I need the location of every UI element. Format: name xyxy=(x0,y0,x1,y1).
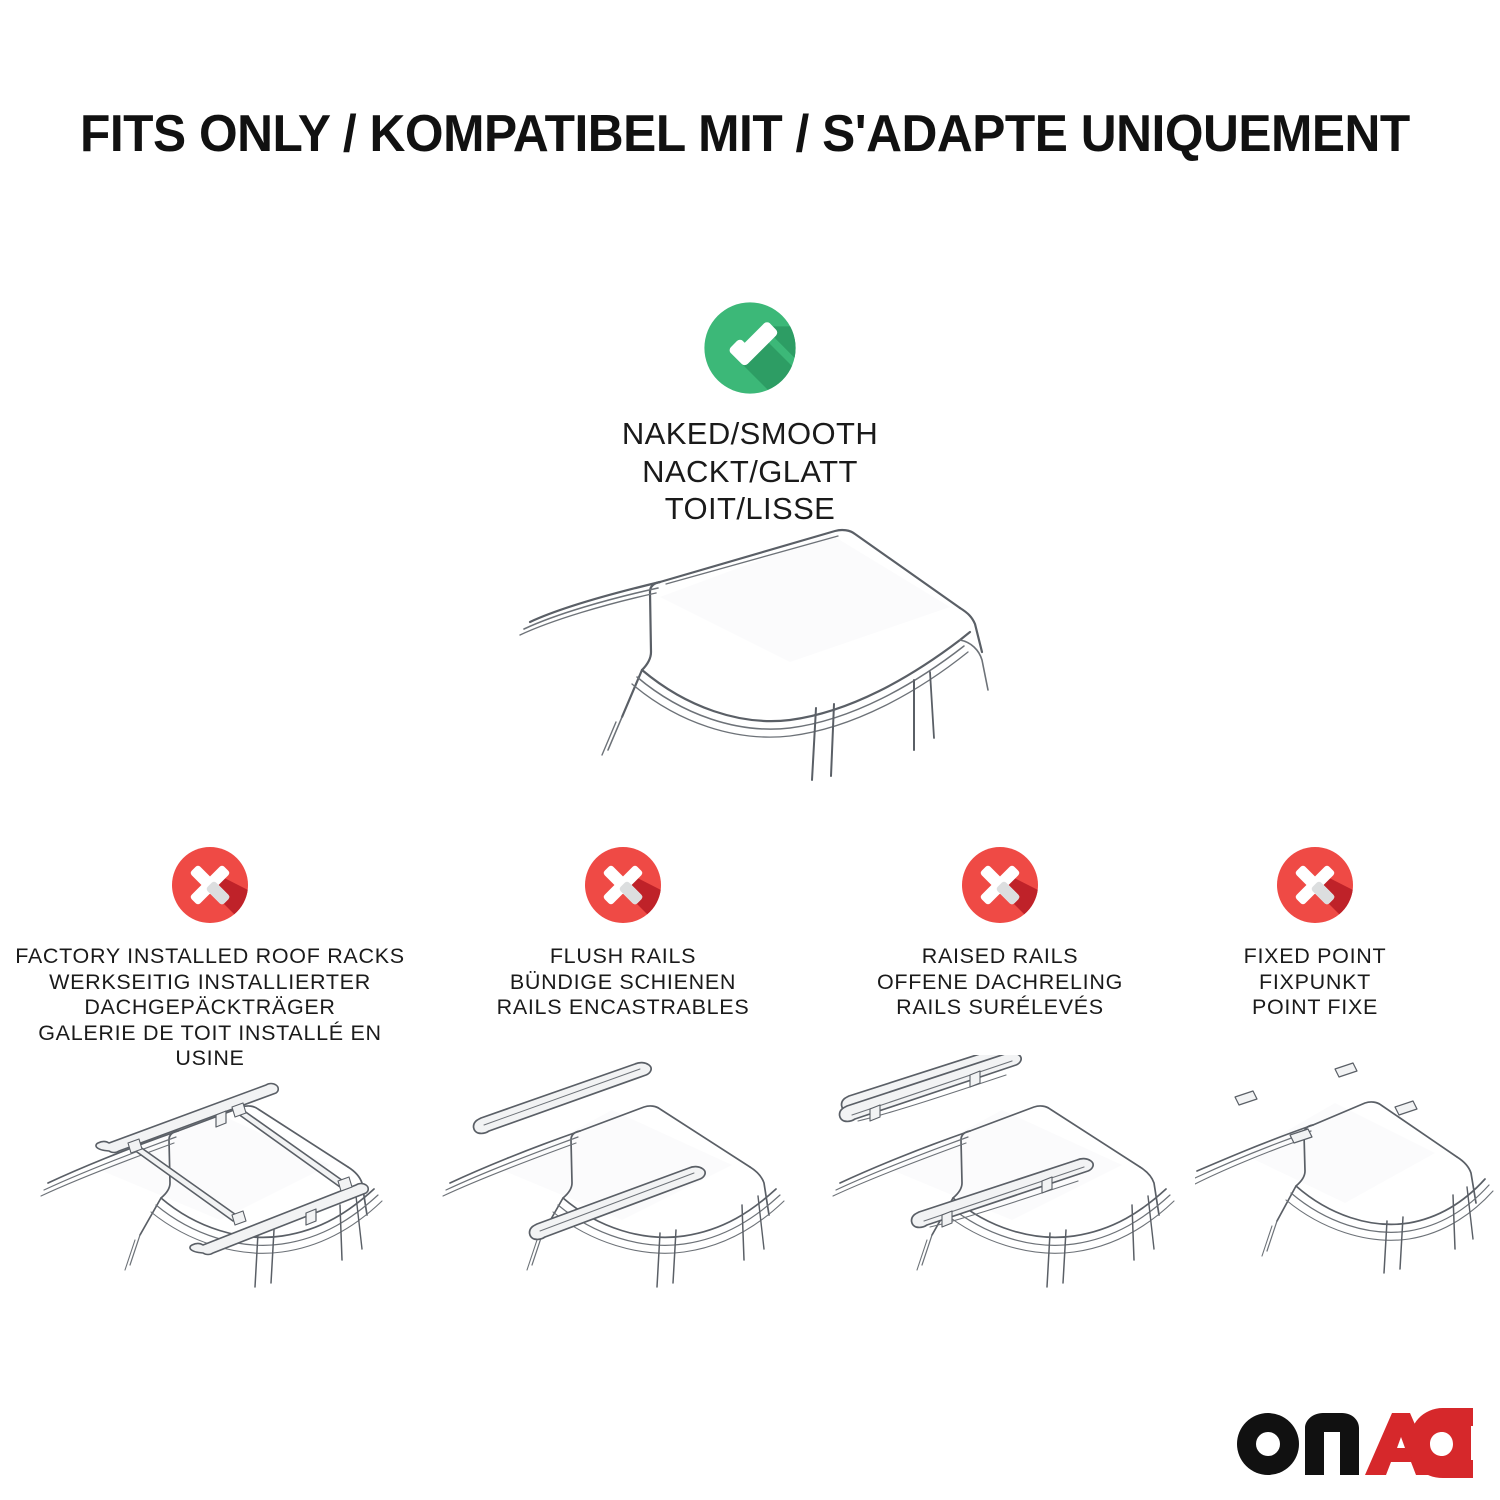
incompatible-label-fr-2: RAILS SURÉLEVÉS xyxy=(820,995,1180,1021)
car-roof-raised-rails-illustration xyxy=(822,1055,1242,1305)
incompatible-option-factory-installed-roof-racks: FACTORY INSTALLED ROOF RACKS WERKSEITIG … xyxy=(10,845,410,1072)
incompatible-label-fr-1: RAILS ENCASTRABLES xyxy=(428,995,818,1021)
incompatible-option-flush-rails: FLUSH RAILS BÜNDIGE SCHIENEN RAILS ENCAS… xyxy=(428,845,818,1021)
compatible-label-de: NACKT/GLATT xyxy=(500,453,1000,491)
incompatible-label-de-3: FIXPUNKT xyxy=(1185,970,1445,996)
incompatible-label-fr-3: POINT FIXE xyxy=(1185,995,1445,1021)
incompatible-option-fixed-point: FIXED POINT FIXPUNKT POINT FIXE xyxy=(1185,845,1445,1021)
omac-logo xyxy=(1235,1408,1473,1478)
incompatible-label-en-0: FACTORY INSTALLED ROOF RACKS xyxy=(10,944,410,970)
compatible-label-en: NAKED/SMOOTH xyxy=(500,415,1000,453)
compatible-option-naked-smooth: NAKED/SMOOTH NACKT/GLATT TOIT/LISSE xyxy=(500,300,1000,528)
cross-circle-icon xyxy=(1185,845,1445,930)
incompatible-illustrations-row xyxy=(0,1055,1500,1305)
incompatible-label-en-2: RAISED RAILS xyxy=(820,944,1180,970)
incompatible-options-row: FACTORY INSTALLED ROOF RACKS WERKSEITIG … xyxy=(0,845,1500,1065)
logo-letter-m xyxy=(1305,1413,1359,1475)
compatibility-infographic: FITS ONLY / KOMPATIBEL MIT / S'ADAPTE UN… xyxy=(0,0,1500,1500)
page-title: FITS ONLY / KOMPATIBEL MIT / S'ADAPTE UN… xyxy=(80,108,1364,160)
car-roof-naked-smooth-illustration xyxy=(490,512,1010,782)
car-roof-fixed-point-illustration xyxy=(1195,1055,1495,1305)
logo-letter-o xyxy=(1237,1413,1299,1475)
compatible-label: NAKED/SMOOTH NACKT/GLATT TOIT/LISSE xyxy=(500,415,1000,528)
incompatible-option-raised-rails: RAISED RAILS OFFENE DACHRELING RAILS SUR… xyxy=(820,845,1180,1021)
cross-circle-icon xyxy=(428,845,818,930)
incompatible-label-en-3: FIXED POINT xyxy=(1185,944,1445,970)
car-roof-factory-rack-illustration xyxy=(30,1055,450,1305)
cross-circle-icon xyxy=(10,845,410,930)
cross-circle-icon xyxy=(820,845,1180,930)
incompatible-label-de-1: BÜNDIGE SCHIENEN xyxy=(428,970,818,996)
car-roof-flush-rails-illustration xyxy=(432,1055,852,1305)
incompatible-label-en-1: FLUSH RAILS xyxy=(428,944,818,970)
incompatible-label-de-2: OFFENE DACHRELING xyxy=(820,970,1180,996)
check-circle-icon xyxy=(500,300,1000,401)
incompatible-label-de-0: WERKSEITIG INSTALLIERTER DACHGEPÄCKTRÄGE… xyxy=(10,970,410,1021)
